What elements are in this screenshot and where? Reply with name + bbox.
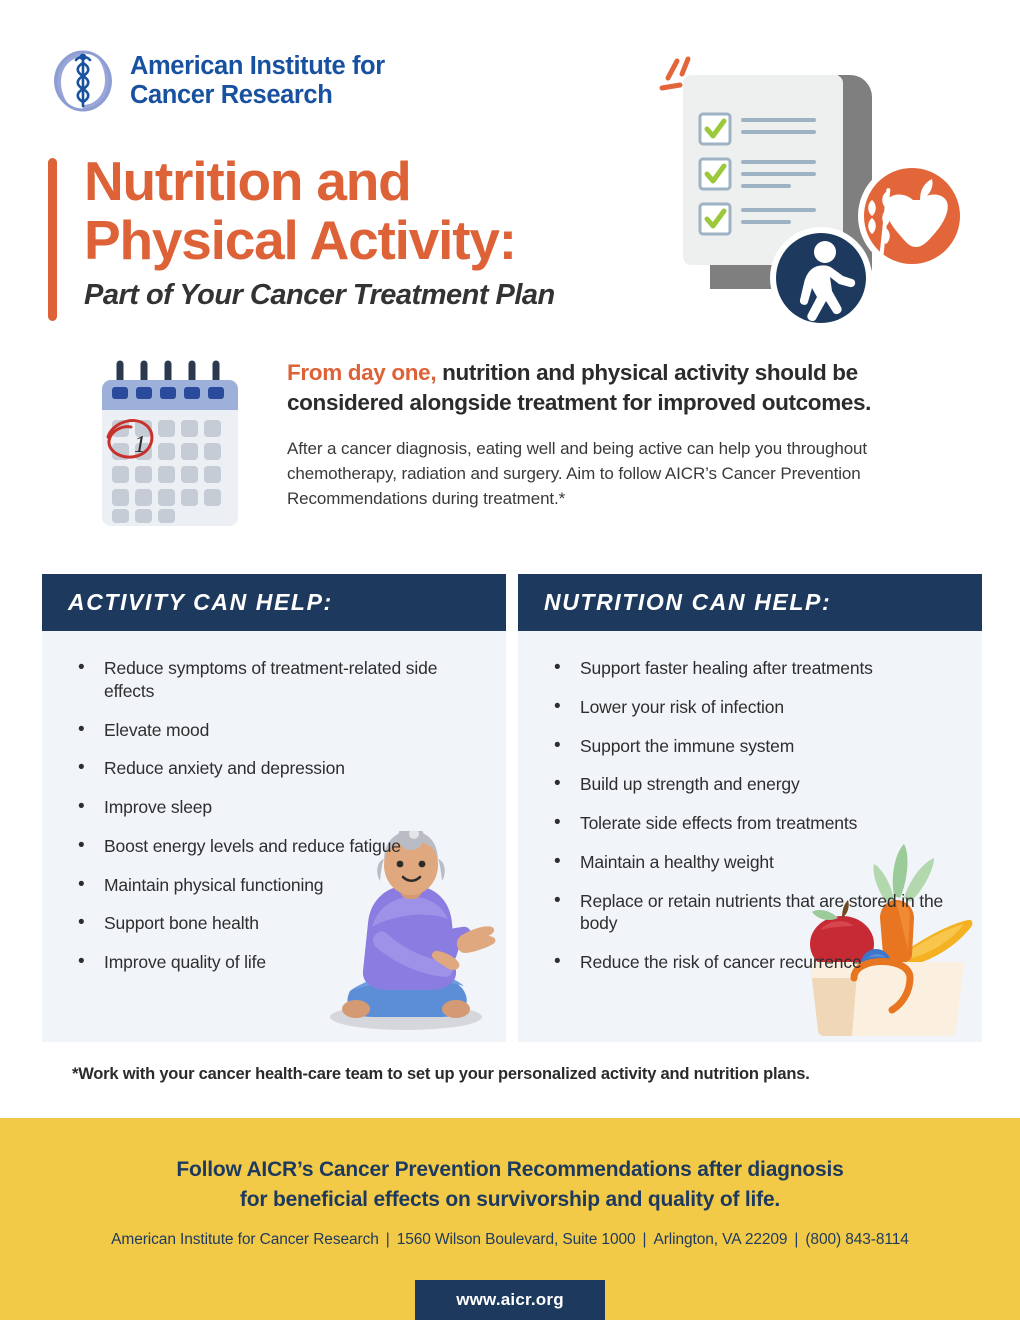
infographic-page: American Institute for Cancer Research N… [0, 0, 1020, 1320]
separator-2: | [636, 1231, 654, 1248]
footer-phone: (800) 843-8114 [805, 1231, 908, 1248]
list-item: Support faster healing after treatments [548, 657, 956, 680]
calendar-day-one-icon: 1 [90, 358, 250, 533]
intro-lead: From day one, nutrition and physical act… [287, 358, 907, 418]
title-line-1: Nutrition and [84, 152, 684, 211]
hero-illustration [648, 40, 988, 340]
list-item: Support the immune system [548, 735, 956, 758]
list-item: Build up strength and energy [548, 773, 956, 796]
separator-3: | [787, 1231, 805, 1248]
logo-line-1: American Institute for [130, 52, 385, 80]
aicr-logo-text: American Institute for Cancer Research [130, 52, 385, 110]
intro-lead-highlight: From day one, [287, 360, 436, 385]
footer-headline-line-2: for beneficial effects on survivorship a… [0, 1185, 1020, 1215]
page-subtitle: Part of Your Cancer Treatment Plan [84, 279, 684, 312]
website-url-button[interactable]: www.aicr.org [415, 1280, 605, 1320]
footer-headline-line-1: Follow AICR’s Cancer Prevention Recommen… [0, 1155, 1020, 1185]
footer-city-state-zip: Arlington, VA 22209 [653, 1231, 787, 1248]
list-item: Elevate mood [72, 719, 480, 742]
list-item: Reduce symptoms of treatment-related sid… [72, 657, 480, 703]
walking-person-badge-icon [770, 227, 872, 329]
panel-nutrition-heading: NUTRITION CAN HELP: [544, 589, 831, 616]
list-item: Reduce the risk of cancer recurrence [548, 951, 956, 974]
intro-text: From day one, nutrition and physical act… [287, 358, 907, 511]
list-item: Improve quality of life [72, 951, 480, 974]
panel-activity-heading: ACTIVITY CAN HELP: [68, 589, 333, 616]
panel-activity-can-help: ACTIVITY CAN HELP: Reduce symptoms of tr… [42, 574, 506, 1042]
aicr-caduceus-logo-icon [46, 44, 120, 118]
page-title: Nutrition and Physical Activity: Part of… [84, 152, 684, 312]
panel-activity-header: ACTIVITY CAN HELP: [42, 574, 506, 631]
website-url-label: www.aicr.org [456, 1290, 564, 1310]
footer-address: American Institute for Cancer Research|1… [0, 1231, 1020, 1249]
list-item: Boost energy levels and reduce fatigue [72, 835, 480, 858]
panel-nutrition-can-help: NUTRITION CAN HELP: Support faster heali… [518, 574, 982, 1042]
activity-benefits-list: Reduce symptoms of treatment-related sid… [42, 631, 506, 974]
list-item: Reduce anxiety and depression [72, 757, 480, 780]
footer-headline: Follow AICR’s Cancer Prevention Recommen… [0, 1155, 1020, 1215]
footnote: *Work with your cancer health-care team … [72, 1065, 972, 1084]
list-item: Maintain a healthy weight [548, 851, 956, 874]
logo-line-2: Cancer Research [130, 81, 332, 109]
list-item: Replace or retain nutrients that are sto… [548, 890, 956, 936]
list-item: Lower your risk of infection [548, 696, 956, 719]
aicr-logo: American Institute for Cancer Research [46, 44, 385, 118]
separator-1: | [379, 1231, 397, 1248]
list-item: Maintain physical functioning [72, 874, 480, 897]
nutrition-benefits-list: Support faster healing after treatments … [518, 631, 982, 974]
apple-wheat-badge-icon [858, 162, 966, 270]
list-item: Tolerate side effects from treatments [548, 812, 956, 835]
panel-nutrition-header: NUTRITION CAN HELP: [518, 574, 982, 631]
title-line-2: Physical Activity: [84, 211, 684, 270]
title-accent-rule [48, 158, 57, 321]
footer-org: American Institute for Cancer Research [111, 1231, 379, 1248]
footer-street: 1560 Wilson Boulevard, Suite 1000 [397, 1231, 636, 1248]
intro-body: After a cancer diagnosis, eating well an… [287, 436, 907, 511]
list-item: Support bone health [72, 912, 480, 935]
list-item: Improve sleep [72, 796, 480, 819]
